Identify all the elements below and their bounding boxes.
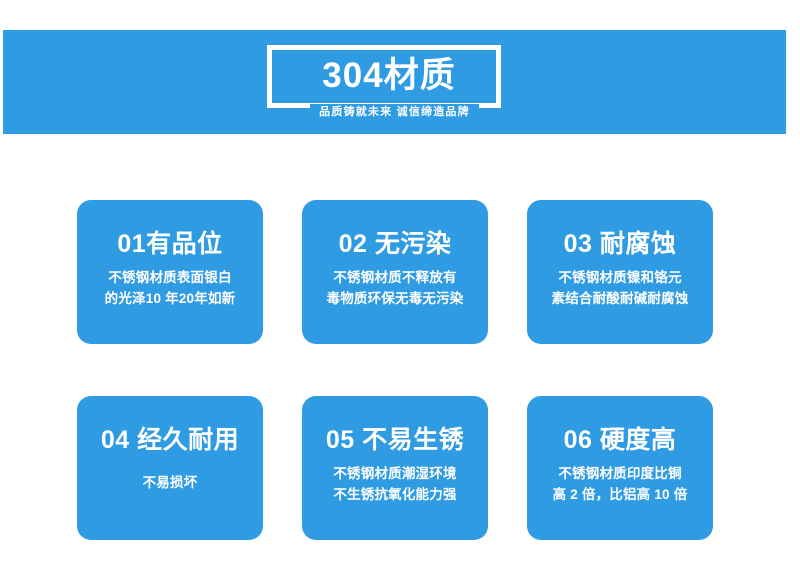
- feature-card-description-line: 毒物质环保无毒无污染: [312, 288, 478, 309]
- feature-row-1: 01有品位 不锈钢材质表面银白 的光泽10 年20年如新 02 无污染 不锈钢材…: [77, 200, 713, 344]
- feature-card-description: 不锈钢材质表面银白 的光泽10 年20年如新: [87, 267, 253, 309]
- feature-card-description: 不锈钢材质印度比铜 高 2 倍，比铝高 10 倍: [537, 463, 703, 505]
- feature-card-02[interactable]: 02 无污染 不锈钢材质不释放有 毒物质环保无毒无污染: [302, 200, 488, 344]
- banner-subtitle-row: 品质铸就未来 诚信缔造品牌: [3, 102, 786, 120]
- feature-card-title: 01有品位: [87, 228, 253, 260]
- feature-card-06[interactable]: 06 硬度高 不锈钢材质印度比铜 高 2 倍，比铝高 10 倍: [527, 396, 713, 540]
- feature-card-05[interactable]: 05 不易生锈 不锈钢材质潮湿环境 不生锈抗氧化能力强: [302, 396, 488, 540]
- feature-card-description: 不易损坏: [87, 472, 253, 493]
- feature-card-title: 05 不易生锈: [312, 424, 478, 456]
- product-feature-page: 304材质 品质铸就未来 诚信缔造品牌 01有品位 不锈钢材质表面银白 的光泽1…: [0, 0, 800, 573]
- feature-card-01[interactable]: 01有品位 不锈钢材质表面银白 的光泽10 年20年如新: [77, 200, 263, 344]
- banner-title: 304材质: [267, 48, 511, 103]
- feature-row-2: 04 经久耐用 不易损坏 05 不易生锈 不锈钢材质潮湿环境 不生锈抗氧化能力强…: [77, 396, 713, 540]
- feature-card-grid: 01有品位 不锈钢材质表面银白 的光泽10 年20年如新 02 无污染 不锈钢材…: [77, 200, 713, 540]
- feature-card-04[interactable]: 04 经久耐用 不易损坏: [77, 396, 263, 540]
- feature-card-description-line: 不锈钢材质潮湿环境: [312, 463, 478, 484]
- feature-card-description-line: 不生锈抗氧化能力强: [312, 484, 478, 505]
- feature-card-description: 不锈钢材质潮湿环境 不生锈抗氧化能力强: [312, 463, 478, 505]
- feature-card-description: 不锈钢材质不释放有 毒物质环保无毒无污染: [312, 267, 478, 309]
- banner: 304材质 品质铸就未来 诚信缔造品牌: [3, 30, 786, 134]
- feature-card-description-line: 不锈钢材质印度比铜: [537, 463, 703, 484]
- banner-subtitle: 品质铸就未来 诚信缔造品牌: [310, 104, 479, 120]
- feature-card-description: 不锈钢材质镍和铬元 素结合耐酸耐碱耐腐蚀: [537, 267, 703, 309]
- feature-card-description-line: 不易损坏: [87, 472, 253, 493]
- feature-card-description-line: 素结合耐酸耐碱耐腐蚀: [537, 288, 703, 309]
- feature-card-title: 06 硬度高: [537, 424, 703, 456]
- feature-card-description-line: 的光泽10 年20年如新: [87, 288, 253, 309]
- feature-card-title: 04 经久耐用: [87, 424, 253, 456]
- feature-card-description-line: 不锈钢材质表面银白: [87, 267, 253, 288]
- feature-card-description-line: 不锈钢材质镍和铬元: [537, 267, 703, 288]
- feature-card-03[interactable]: 03 耐腐蚀 不锈钢材质镍和铬元 素结合耐酸耐碱耐腐蚀: [527, 200, 713, 344]
- feature-card-description-line: 不锈钢材质不释放有: [312, 267, 478, 288]
- feature-card-title: 03 耐腐蚀: [537, 228, 703, 260]
- feature-card-title: 02 无污染: [312, 228, 478, 260]
- feature-card-description-line: 高 2 倍，比铝高 10 倍: [537, 484, 703, 505]
